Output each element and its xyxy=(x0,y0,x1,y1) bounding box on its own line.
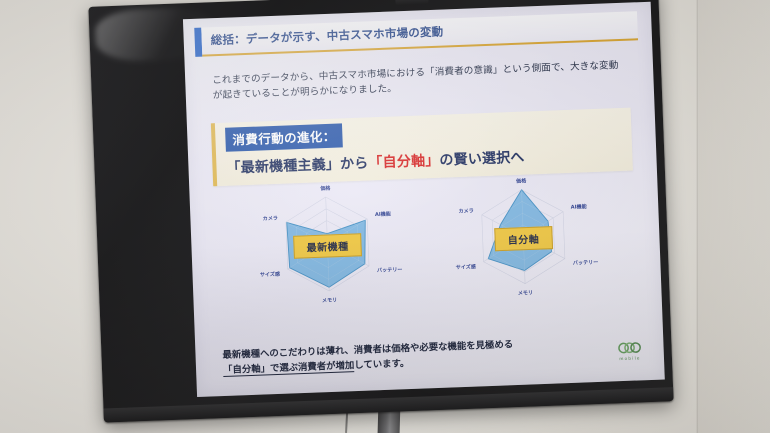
wall-shade xyxy=(699,0,770,433)
radar-center-label-1: 自分軸 xyxy=(494,226,552,251)
page-title: 総括：データが示す、中古スマホ市場の変動 xyxy=(210,17,628,49)
radar-axis-label: カメラ xyxy=(458,207,474,215)
summary-line-1: 最新機種へのこだわりは薄れ、消費者は価格や必要な機能を見極める xyxy=(222,339,513,361)
summary-line-2-tail: しています。 xyxy=(354,358,409,371)
radar-chart-own-axis: 価格AI機能バッテリーメモリサイズ感カメラ 自分軸 xyxy=(436,172,611,306)
radar-axis-label: AI機能 xyxy=(375,210,392,218)
radar-chart-latest-model: 価格AI機能バッテリーメモリサイズ感カメラ 最新機種 xyxy=(240,179,415,313)
presentation-slide: 総括：データが示す、中古スマホ市場の変動 これまでのデータから、中古スマホ市場に… xyxy=(183,2,665,397)
radar-axis-label: カメラ xyxy=(263,215,279,223)
callout-badge: 消費行動の進化： xyxy=(225,123,343,151)
summary-line-2-underlined: 「自分軸」で選ぶ消費者が増加 xyxy=(223,360,355,377)
monitor: 総括：データが示す、中古スマホ市場の変動 これまでのデータから、中古スマホ市場に… xyxy=(88,0,673,423)
logo-brand-text: mobile xyxy=(610,355,650,361)
radar-center-label-0: 最新機種 xyxy=(293,233,362,259)
radar-axis-label: バッテリー xyxy=(573,259,599,267)
radar-axis-label: AI機能 xyxy=(571,203,588,211)
radar-axis-label: 価格 xyxy=(319,185,331,192)
callout-prefix: 「最新機種主義」から xyxy=(226,155,369,176)
mobile-logo: mobile xyxy=(609,340,650,367)
slide-title-row: 総括：データが示す、中古スマホ市場の変動 xyxy=(194,11,638,57)
slide-title-box: 総括：データが示す、中古スマホ市場の変動 xyxy=(201,11,638,56)
radar-chart-group: 価格AI機能バッテリーメモリサイズ感カメラ 最新機種 価格AI機能バッテリーメモ… xyxy=(213,171,638,315)
wall-corner-seam xyxy=(696,0,699,433)
radar-axis-label: メモリ xyxy=(518,290,534,297)
radar-axis-label: サイズ感 xyxy=(456,263,476,271)
radar-axis-label: バッテリー xyxy=(377,266,403,274)
rings-icon xyxy=(609,340,649,355)
callout-suffix: の賢い選択へ xyxy=(439,150,525,169)
radar-axis-label: サイズ感 xyxy=(260,271,280,279)
callout-accent: 「自分軸」 xyxy=(368,153,440,172)
monitor-screen: 総括：データが示す、中古スマホ市場の変動 これまでのデータから、中古スマホ市場に… xyxy=(183,2,665,397)
room-scene: 総括：データが示す、中古スマホ市場の変動 これまでのデータから、中古スマホ市場に… xyxy=(0,0,770,433)
radar-axis-label: メモリ xyxy=(322,298,338,305)
radar-axis-label: 価格 xyxy=(515,177,527,184)
summary-text: 最新機種へのこだわりは薄れ、消費者は価格や必要な機能を見極める 「自分軸」で選ぶ… xyxy=(222,334,592,378)
lead-paragraph: これまでのデータから、中古スマホ市場における「消費者の意識」という側面で、大きな… xyxy=(212,59,628,104)
